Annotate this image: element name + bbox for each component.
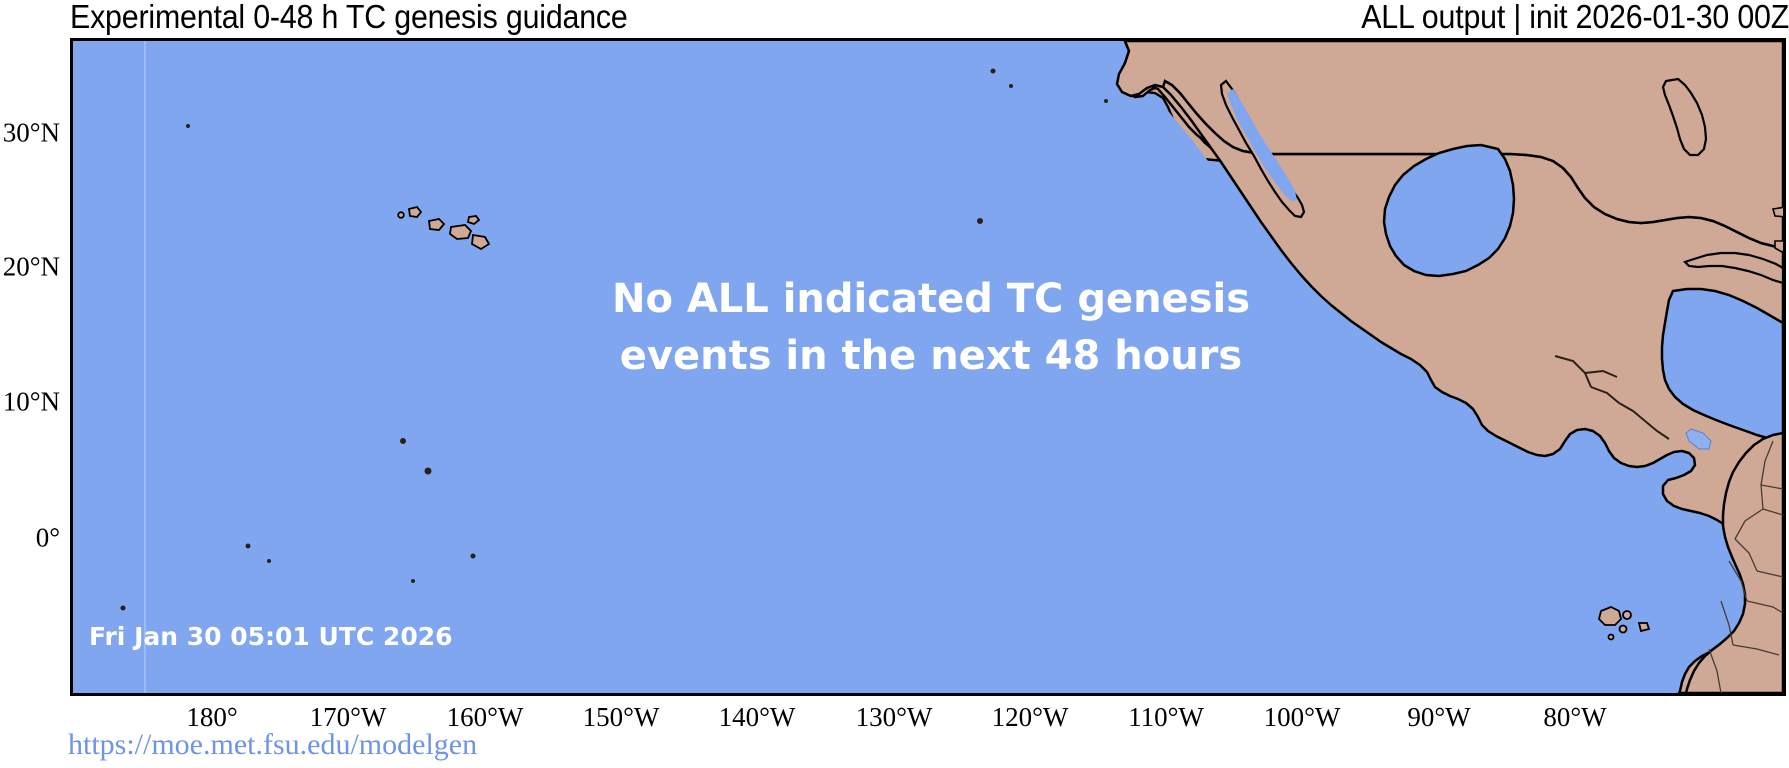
x-tick-label: 100°W bbox=[1264, 702, 1341, 733]
y-tick-label: 10°N bbox=[3, 387, 60, 418]
header-bar: Experimental 0-48 h TC genesis guidance … bbox=[0, 0, 1789, 36]
page-title: Experimental 0-48 h TC genesis guidance bbox=[70, 0, 628, 36]
model-init-label: ALL output | init 2026-01-30 00Z bbox=[1361, 0, 1789, 36]
timestamp-label: Fri Jan 30 05:01 UTC 2026 bbox=[89, 622, 453, 651]
source-url-link[interactable]: https://moe.met.fsu.edu/modelgen bbox=[68, 728, 477, 762]
basemap-svg bbox=[73, 41, 1783, 693]
y-tick-label: 0° bbox=[36, 523, 60, 554]
x-tick-label: 110°W bbox=[1128, 702, 1204, 733]
x-tick-label: 120°W bbox=[992, 702, 1069, 733]
x-tick-label: 80°W bbox=[1543, 702, 1606, 733]
x-tick-label: 150°W bbox=[583, 702, 660, 733]
map-plot-area[interactable]: No ALL indicated TC genesis events in th… bbox=[70, 38, 1786, 696]
x-tick-label: 90°W bbox=[1407, 702, 1470, 733]
y-tick-label: 30°N bbox=[3, 118, 60, 149]
y-tick-label: 20°N bbox=[3, 252, 60, 283]
x-tick-label: 130°W bbox=[856, 702, 933, 733]
x-tick-label: 140°W bbox=[719, 702, 796, 733]
